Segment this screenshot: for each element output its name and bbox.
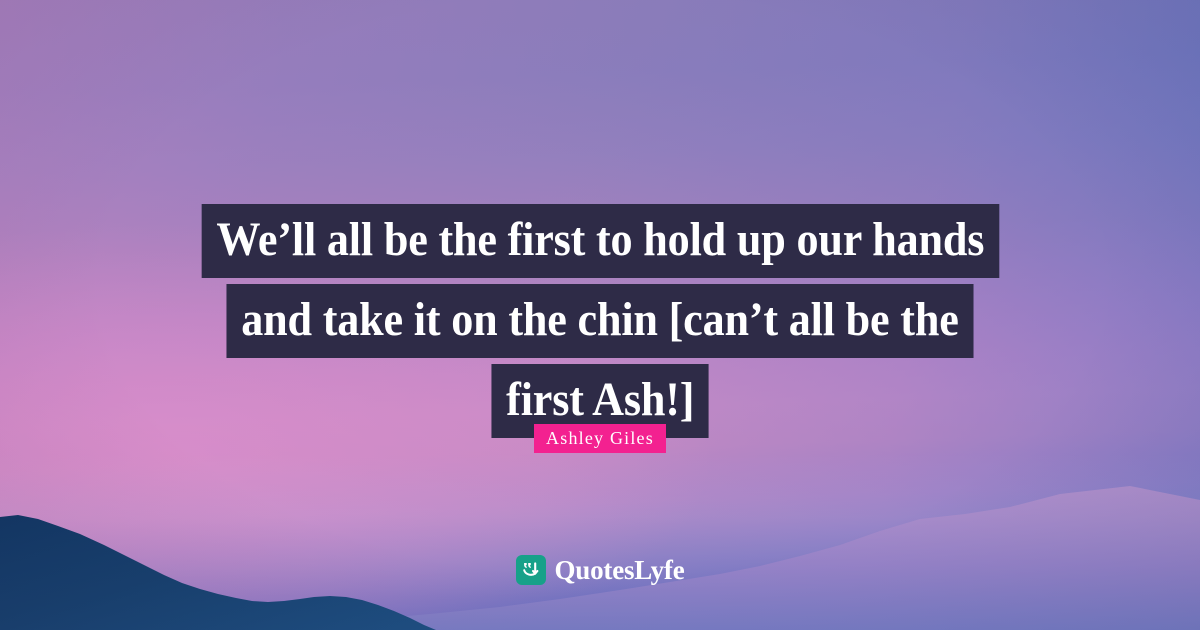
quote-smiley-icon — [516, 555, 546, 585]
quote-text-block: We’ll all be the first to hold up our ha… — [0, 204, 1200, 444]
brand-logo[interactable]: QuotesLyfe — [0, 555, 1200, 585]
quote-line-1: We’ll all be the first to hold up our ha… — [201, 204, 998, 278]
card-content: We’ll all be the first to hold up our ha… — [0, 0, 1200, 630]
quote-line-2: and take it on the chin [can’t all be th… — [227, 284, 974, 358]
quote-image-card: We’ll all be the first to hold up our ha… — [0, 0, 1200, 630]
author-name-badge: Ashley Giles — [534, 424, 666, 453]
quote-attribution: Ashley Giles — [0, 424, 1200, 453]
brand-name-text: QuotesLyfe — [555, 557, 685, 584]
